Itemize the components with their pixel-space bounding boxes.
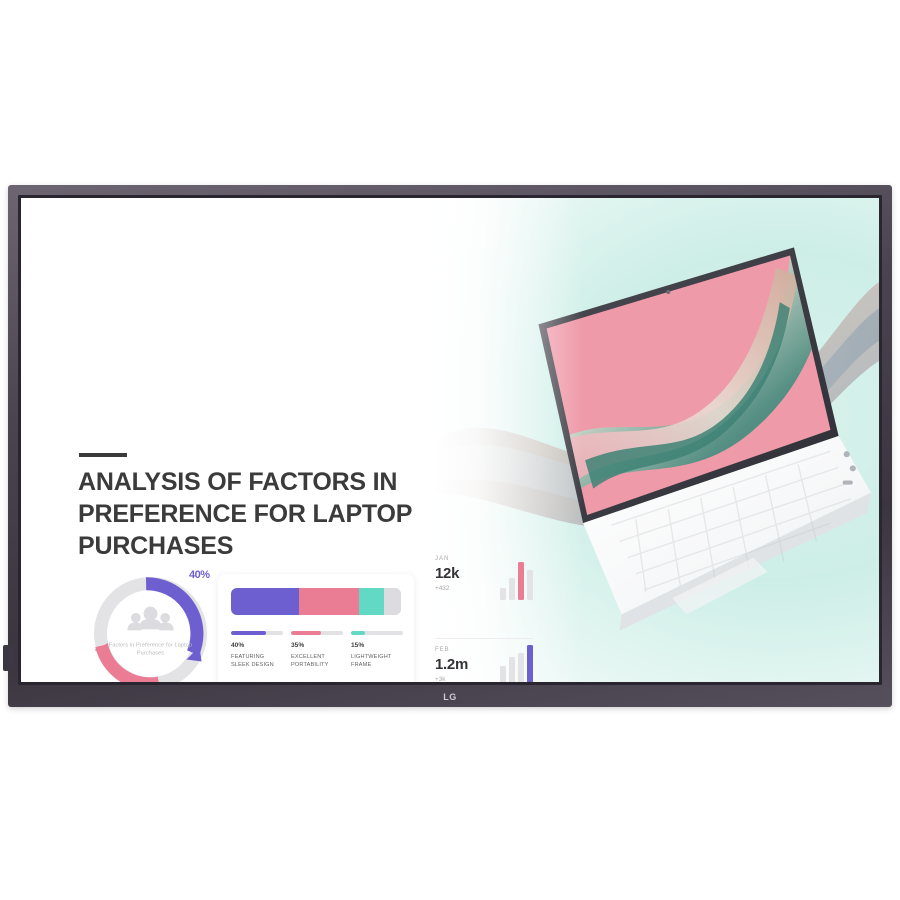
legend-fill [231, 631, 266, 635]
stat-mini-bar-chart [500, 643, 533, 682]
legend-percent: 15% [351, 642, 403, 649]
stat-mini-bar-chart [500, 560, 533, 600]
stacked-bar-segment [384, 588, 401, 615]
donut-primary-value: 40 [189, 569, 200, 581]
legend-fill [291, 631, 321, 635]
legend-track [231, 631, 283, 635]
donut-center-label: Factors in Preference for Laptop Purchas… [105, 641, 197, 658]
stacked-bar-chart [231, 588, 401, 615]
title-accent-rule [79, 453, 127, 457]
tv-side-connector [3, 645, 15, 671]
legend-fill [351, 631, 365, 635]
donut-primary-unit: % [200, 569, 209, 581]
legend-percent: 35% [291, 642, 343, 649]
mini-bar [527, 570, 533, 600]
legend-item: 40%FEATURING SLEEK DESIGN [231, 631, 283, 669]
mini-bar [500, 588, 506, 600]
monthly-stats-panel: JAN12k+432FEB1.2m+3k [435, 556, 533, 682]
brand-logo-text: LG [443, 692, 457, 702]
screenshot-root: LG [0, 0, 900, 900]
stacked-bar-segment [299, 588, 359, 615]
stacked-bar-segment [359, 588, 385, 615]
legend-label: EXCELLENT PORTABILITY [291, 653, 343, 669]
mini-bar [518, 562, 524, 600]
legend-item: 15%LIGHTWEIGHT FRAME [351, 631, 403, 669]
mini-bar [518, 653, 524, 682]
legend-list: 40%FEATURING SLEEK DESIGN35%EXCELLENT PO… [231, 631, 403, 669]
mini-bar [527, 645, 533, 682]
lg-logo-icon: LG [437, 690, 463, 704]
slide-canvas: ANALYSIS OF FACTORS IN PREFERENCE FOR LA… [21, 198, 879, 682]
mini-bar [509, 657, 515, 682]
tv-screen: ANALYSIS OF FACTORS IN PREFERENCE FOR LA… [21, 198, 879, 682]
legend-track [351, 631, 403, 635]
stat-block: JAN12k+432 [435, 556, 533, 638]
legend-percent: 40% [231, 642, 283, 649]
legend-track [291, 631, 343, 635]
mini-bar [500, 666, 506, 682]
legend-label: FEATURING SLEEK DESIGN [231, 653, 283, 669]
stacked-bar-segment [231, 588, 299, 615]
donut-primary-percent: 40% [189, 560, 210, 584]
page-title: ANALYSIS OF FACTORS IN PREFERENCE FOR LA… [78, 466, 538, 562]
factor-breakdown-card: 40%FEATURING SLEEK DESIGN35%EXCELLENT PO… [218, 574, 414, 682]
mini-bar [509, 578, 515, 600]
legend-label: LIGHTWEIGHT FRAME [351, 653, 403, 669]
stat-block: FEB1.2m+3k [435, 638, 533, 682]
tv-chassis: LG [8, 185, 892, 707]
legend-item: 35%EXCELLENT PORTABILITY [291, 631, 343, 669]
